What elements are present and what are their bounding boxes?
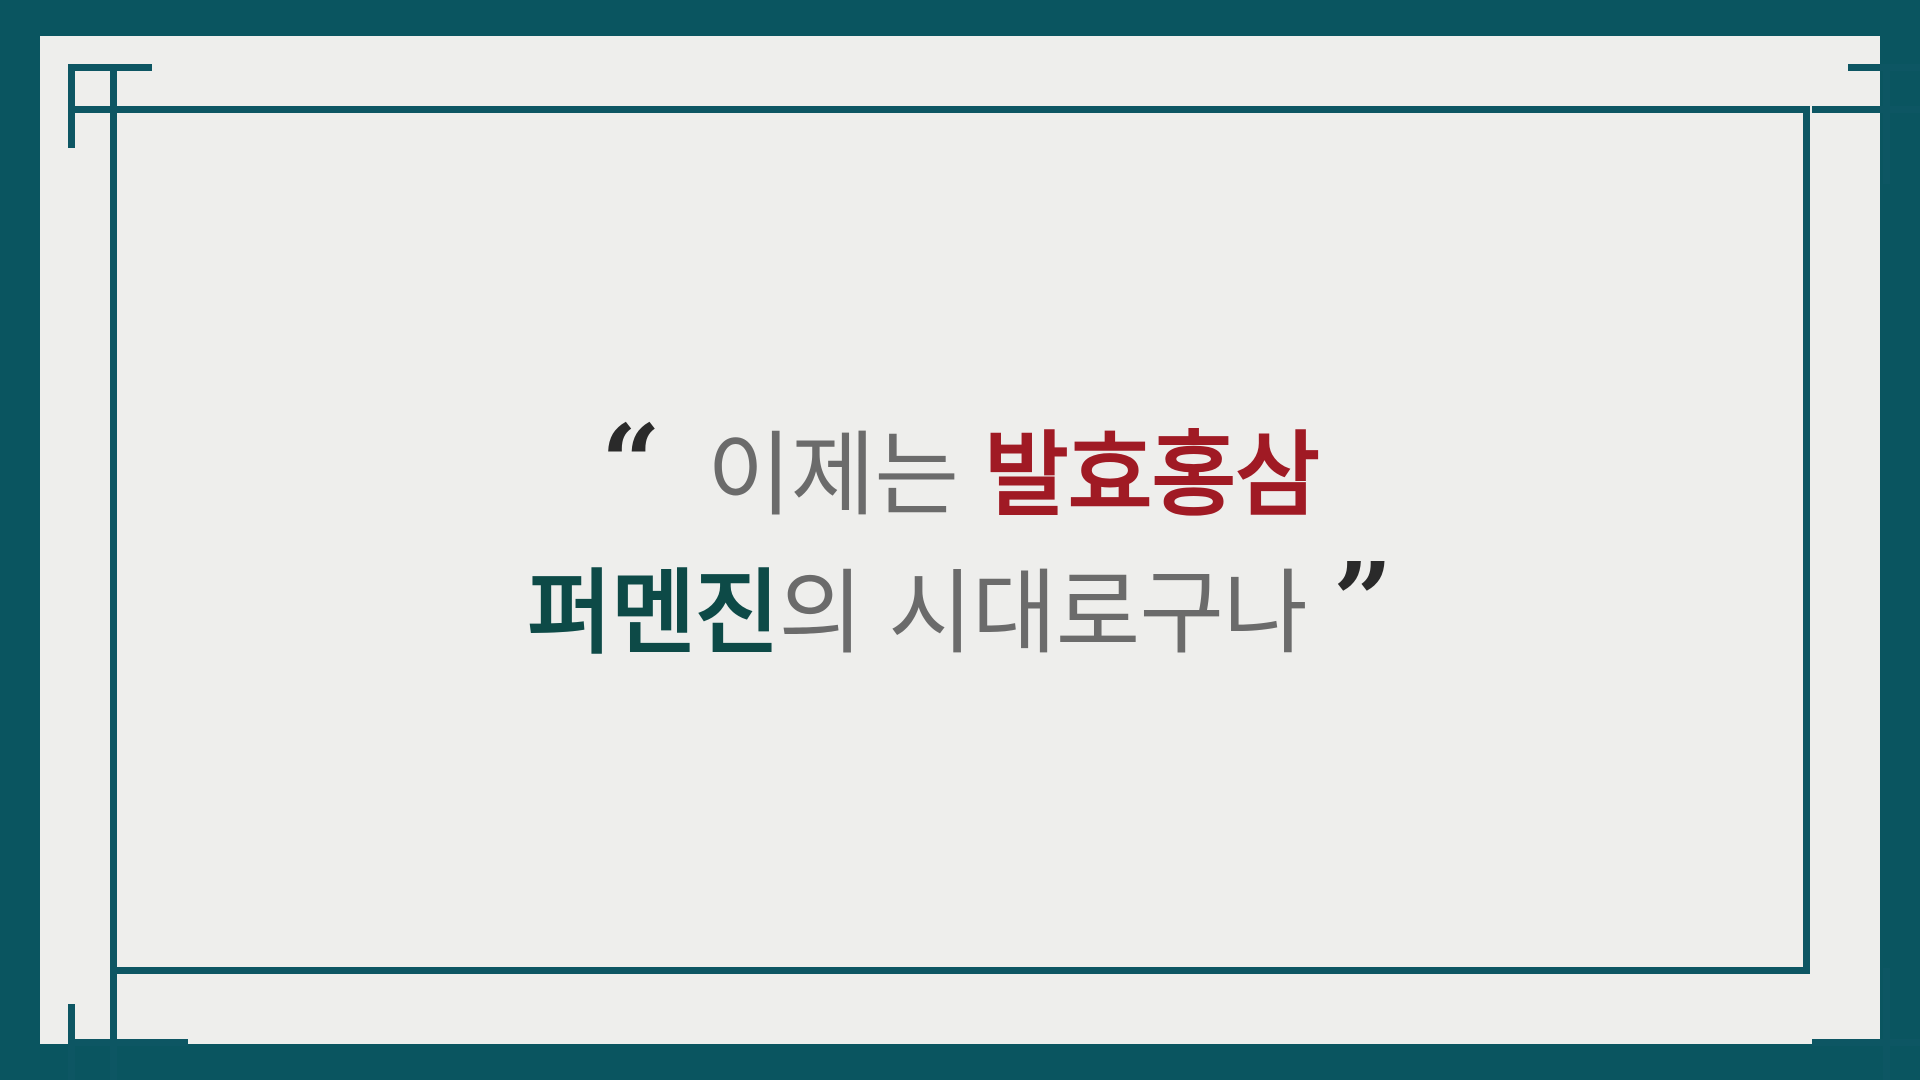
closing-quote-mark: ” — [1333, 549, 1393, 653]
slide-canvas: “ 이제는 발효홍삼 퍼멘진 의 시대로구나 ” — [0, 0, 1920, 1080]
quote-text-plain-2: 시대로구나 — [888, 568, 1307, 660]
quote-text-plain-1: 이제는 — [707, 430, 958, 522]
quote-text-highlight-red: 발효홍삼 — [984, 430, 1319, 522]
quote-block: “ 이제는 발효홍삼 퍼멘진 의 시대로구나 ” — [0, 0, 1920, 1080]
quote-text-particle: 의 — [779, 568, 863, 660]
quote-text-highlight-teal: 퍼멘진 — [527, 568, 778, 660]
quote-line-1: “ 이제는 발효홍삼 — [601, 419, 1319, 523]
quote-line-2: 퍼멘진 의 시대로구나 ” — [527, 557, 1392, 661]
opening-quote-mark: “ — [601, 411, 661, 515]
